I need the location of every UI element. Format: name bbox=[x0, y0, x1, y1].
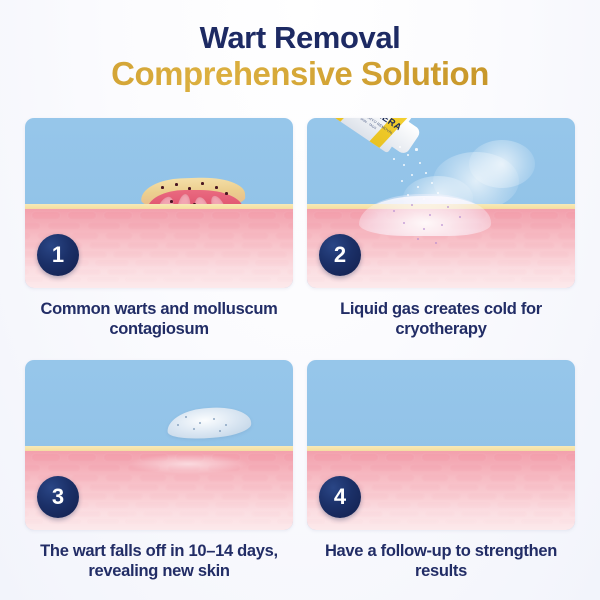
skin-cell bbox=[201, 519, 233, 524]
skin-cell bbox=[221, 251, 251, 258]
skin-cell bbox=[409, 484, 441, 491]
skin-cell bbox=[185, 493, 215, 500]
skin-cell bbox=[387, 474, 415, 482]
skin-cell bbox=[275, 474, 293, 482]
skin-cell bbox=[497, 269, 527, 275]
skin-cell bbox=[251, 511, 281, 517]
skin-cell bbox=[417, 260, 451, 266]
skin-cell bbox=[87, 277, 119, 282]
skin-cell bbox=[95, 502, 129, 508]
skin-cell bbox=[49, 277, 81, 282]
skin-cell bbox=[407, 277, 439, 282]
skin-cell bbox=[445, 277, 477, 282]
step-caption-4: Have a follow-up to strengthen results bbox=[307, 541, 575, 581]
scab-fleck bbox=[177, 424, 179, 426]
scab-fleck bbox=[213, 418, 215, 420]
skin-cell bbox=[107, 269, 137, 275]
skin-cell bbox=[173, 474, 201, 482]
scab-fleck bbox=[225, 424, 227, 426]
skin-cell bbox=[215, 511, 245, 517]
skin-cell bbox=[203, 484, 235, 491]
scene-wart-falls-off: 3 bbox=[25, 360, 293, 530]
skin-cell bbox=[257, 493, 287, 500]
skin-cell bbox=[239, 519, 271, 524]
skin-cell bbox=[329, 222, 363, 230]
skin-cell bbox=[445, 519, 477, 524]
skin-cell bbox=[561, 242, 575, 249]
skin-cell bbox=[497, 502, 531, 508]
skin-cell bbox=[353, 474, 381, 482]
skin-cell bbox=[457, 453, 487, 462]
skin-cell bbox=[425, 269, 455, 275]
skin-cell bbox=[307, 269, 311, 275]
step-badge-3: 3 bbox=[37, 476, 79, 518]
skin-cell bbox=[369, 277, 401, 282]
skin-cell bbox=[529, 222, 563, 230]
wart-capillary-dot bbox=[215, 186, 218, 189]
step-badge-1: 1 bbox=[37, 234, 79, 276]
skin-cell bbox=[539, 251, 569, 258]
skin-cell bbox=[241, 474, 269, 482]
skin-cell bbox=[523, 484, 555, 491]
skin-cell bbox=[251, 269, 281, 275]
wart-removal-infographic: Wart Removal Comprehensive Solution bbox=[0, 0, 600, 600]
skin-cell bbox=[125, 277, 157, 282]
skin-cell bbox=[407, 519, 439, 524]
skin-cell bbox=[467, 251, 497, 258]
skin-cell bbox=[77, 493, 107, 500]
skin-cell bbox=[175, 502, 209, 508]
skin-cell bbox=[461, 511, 491, 517]
skin-cell bbox=[203, 242, 235, 249]
skin-cell bbox=[483, 277, 515, 282]
skin-cell bbox=[521, 519, 553, 524]
skin-cell bbox=[149, 251, 179, 258]
skin-cell bbox=[49, 519, 81, 524]
wart-capillary-dot bbox=[201, 182, 204, 185]
mist-particle bbox=[411, 174, 413, 176]
skin-cell bbox=[307, 474, 313, 482]
skin-cell bbox=[431, 493, 461, 500]
skin-cell bbox=[329, 464, 363, 472]
step-caption-3: The wart falls off in 10–14 days, reveal… bbox=[25, 541, 293, 581]
skin-cell bbox=[417, 502, 451, 508]
skin-cell bbox=[457, 502, 491, 508]
skin-cell bbox=[353, 269, 383, 275]
mist-particle bbox=[417, 186, 419, 188]
detached-wart-scab bbox=[166, 404, 252, 441]
skin-cell bbox=[359, 251, 389, 258]
skin-cell bbox=[493, 453, 523, 462]
skin-cell bbox=[207, 222, 241, 230]
skin-cell bbox=[47, 464, 81, 472]
skin-cell bbox=[307, 493, 317, 500]
skin-cell bbox=[529, 211, 559, 220]
skin-cell bbox=[313, 211, 343, 220]
skin-cell bbox=[523, 474, 551, 482]
skin-cell bbox=[165, 484, 197, 491]
skin-cell bbox=[533, 269, 563, 275]
title-block: Wart Removal Comprehensive Solution bbox=[0, 20, 600, 93]
skin-cell bbox=[353, 511, 383, 517]
skin-cell bbox=[287, 269, 293, 275]
skin-cell bbox=[369, 464, 403, 472]
step-panel-3: 3 The wart falls off in 10–14 days, reve… bbox=[25, 360, 293, 588]
skin-cell bbox=[241, 242, 273, 249]
skin-cell bbox=[561, 484, 575, 491]
skin-cell bbox=[485, 242, 517, 249]
skin-cell bbox=[569, 222, 575, 230]
skin-cell bbox=[489, 222, 523, 230]
skin-cell bbox=[71, 232, 99, 240]
skin-cell bbox=[71, 269, 101, 275]
skin-cell bbox=[105, 232, 133, 240]
skin-cell bbox=[533, 511, 563, 517]
step-panel-1: 1 Common warts and molluscum contagiosum bbox=[25, 118, 293, 346]
skin-cell bbox=[529, 464, 563, 472]
skin-cell bbox=[71, 474, 99, 482]
skin-cell bbox=[385, 453, 415, 462]
wart-capillary-dot bbox=[161, 186, 164, 189]
skin-cell bbox=[377, 260, 411, 266]
mist-particle bbox=[401, 180, 403, 182]
skin-cell bbox=[87, 464, 121, 472]
skin-cell bbox=[77, 251, 107, 258]
skin-cell bbox=[247, 222, 281, 230]
skin-cell bbox=[241, 232, 269, 240]
skin-cell bbox=[221, 493, 251, 500]
skin-cell bbox=[127, 222, 161, 230]
mist-particle bbox=[393, 158, 395, 160]
skin-cell bbox=[25, 493, 35, 500]
skin-cell bbox=[247, 453, 277, 462]
skin-cell bbox=[47, 222, 81, 230]
skin-cell bbox=[371, 484, 403, 491]
skin-cell bbox=[371, 242, 403, 249]
skin-cell bbox=[557, 232, 575, 240]
skin-cell bbox=[103, 211, 133, 220]
scab-fleck bbox=[193, 428, 195, 430]
scene-healed-skin: 4 bbox=[307, 360, 575, 530]
skin-cell bbox=[25, 511, 29, 517]
skin-cell bbox=[377, 502, 411, 508]
skin-cell bbox=[103, 453, 133, 462]
wart-capillary-dot bbox=[188, 187, 191, 190]
skin-cell bbox=[67, 211, 97, 220]
skin-cell bbox=[307, 251, 317, 258]
skin-cell bbox=[277, 519, 293, 524]
skin-cell bbox=[559, 519, 575, 524]
mist-particle bbox=[425, 172, 427, 174]
skin-cell bbox=[557, 474, 575, 482]
skin-cell bbox=[389, 511, 419, 517]
scene-wart-lesion: 1 bbox=[25, 118, 293, 288]
skin-cell bbox=[307, 277, 325, 282]
scene-cryotherapy-spray: CHILLERASE FREEZE CRYO REMOVAL WART · SK… bbox=[307, 118, 575, 288]
skin-cell bbox=[113, 493, 143, 500]
skin-cell bbox=[107, 511, 137, 517]
skin-cell bbox=[307, 464, 323, 472]
skin-cell bbox=[167, 222, 201, 230]
skin-cell bbox=[139, 474, 167, 482]
skin-cell bbox=[421, 474, 449, 482]
skin-cell bbox=[25, 222, 41, 230]
mist-particle bbox=[419, 162, 421, 164]
step-panel-4: 4 Have a follow-up to strengthen results bbox=[307, 360, 575, 588]
skin-cell bbox=[569, 511, 575, 517]
skin-cell bbox=[255, 260, 289, 266]
skin-cell bbox=[25, 464, 41, 472]
skin-cell bbox=[279, 242, 293, 249]
skin-cell bbox=[559, 277, 575, 282]
skin-cell bbox=[127, 484, 159, 491]
skin-cell bbox=[241, 484, 273, 491]
scab-fleck bbox=[185, 416, 187, 418]
skin-cell bbox=[489, 474, 517, 482]
skin-cell bbox=[275, 232, 293, 240]
skin-cell bbox=[389, 269, 419, 275]
skin-cell bbox=[139, 211, 169, 220]
mist-particle bbox=[415, 148, 418, 151]
skin-cell bbox=[215, 260, 249, 266]
skin-cell bbox=[489, 232, 517, 240]
step-panel-2: CHILLERASE FREEZE CRYO REMOVAL WART · SK… bbox=[307, 118, 575, 346]
skin-cell bbox=[211, 211, 241, 220]
skin-cell bbox=[287, 464, 293, 472]
skin-cell bbox=[105, 474, 133, 482]
skin-cell bbox=[31, 453, 61, 462]
skin-cell bbox=[247, 464, 281, 472]
step-caption-2: Liquid gas creates cold for cryotherapy bbox=[307, 299, 575, 339]
skin-cell bbox=[503, 251, 533, 258]
skin-cell bbox=[25, 474, 31, 482]
skin-cell bbox=[179, 511, 209, 517]
skin-cell bbox=[279, 484, 293, 491]
skin-cell bbox=[89, 484, 121, 491]
skin-cell bbox=[359, 493, 389, 500]
skin-cell bbox=[113, 251, 143, 258]
skin-cell bbox=[349, 453, 379, 462]
skin-cell bbox=[523, 242, 555, 249]
skin-cell bbox=[257, 251, 287, 258]
skin-cell bbox=[179, 269, 209, 275]
skin-cell bbox=[25, 269, 29, 275]
skin-cell bbox=[25, 232, 31, 240]
skin-cell bbox=[331, 277, 363, 282]
skin-cell bbox=[175, 211, 205, 220]
skin-cell bbox=[307, 232, 313, 240]
skin-cell bbox=[483, 519, 515, 524]
skin-cell bbox=[67, 453, 97, 462]
skin-cell bbox=[207, 474, 235, 482]
step-caption-1: Common warts and molluscum contagiosum bbox=[25, 299, 293, 339]
skin-cell bbox=[287, 511, 293, 517]
skin-cell bbox=[521, 277, 553, 282]
skin-cell bbox=[489, 464, 523, 472]
skin-cell bbox=[283, 453, 293, 462]
skin-cell bbox=[447, 484, 479, 491]
page-title-line1: Wart Removal bbox=[0, 20, 600, 55]
skin-cell bbox=[71, 511, 101, 517]
page-title-line2: Comprehensive Solution bbox=[0, 55, 600, 93]
skin-cell bbox=[143, 269, 173, 275]
skin-cell bbox=[449, 464, 483, 472]
scab-fleck bbox=[219, 430, 221, 432]
skin-cell bbox=[87, 222, 121, 230]
skin-cell bbox=[215, 502, 249, 508]
skin-cell bbox=[569, 269, 575, 275]
skin-cell bbox=[25, 519, 43, 524]
step-badge-4: 4 bbox=[319, 476, 361, 518]
skin-cell bbox=[461, 269, 491, 275]
skin-cell bbox=[149, 493, 179, 500]
skin-cell bbox=[537, 260, 571, 266]
skin-cell bbox=[173, 232, 201, 240]
skin-cell bbox=[455, 474, 483, 482]
skin-cell bbox=[307, 511, 311, 517]
skin-cell bbox=[139, 232, 167, 240]
skin-cell bbox=[457, 260, 491, 266]
vapor-cloud bbox=[469, 140, 535, 188]
skin-cell bbox=[201, 277, 233, 282]
step-badge-2: 2 bbox=[319, 234, 361, 276]
new-skin-highlight bbox=[129, 454, 247, 474]
skin-cell bbox=[485, 484, 517, 491]
skin-cell bbox=[127, 242, 159, 249]
wart-capillary-dot bbox=[175, 183, 178, 186]
skin-cell bbox=[431, 251, 461, 258]
mist-particle bbox=[407, 154, 409, 156]
skin-cell bbox=[215, 269, 245, 275]
skin-cell bbox=[497, 511, 527, 517]
skin-cell bbox=[135, 502, 169, 508]
skin-cell bbox=[307, 222, 323, 230]
skin-cell bbox=[307, 519, 325, 524]
skin-cell bbox=[565, 211, 575, 220]
skin-cell bbox=[425, 511, 455, 517]
skin-cell bbox=[163, 277, 195, 282]
skin-cell bbox=[185, 251, 215, 258]
skin-cell bbox=[565, 453, 575, 462]
skin-cell bbox=[503, 493, 533, 500]
skin-cell bbox=[125, 519, 157, 524]
skin-cell bbox=[143, 511, 173, 517]
skin-cell bbox=[313, 453, 343, 462]
skin-cell bbox=[497, 260, 531, 266]
skin-cell bbox=[447, 242, 479, 249]
skin-cell bbox=[421, 453, 451, 462]
skin-cell bbox=[31, 211, 61, 220]
skin-cell bbox=[283, 211, 293, 220]
wart-capillary-dot bbox=[170, 200, 173, 203]
skin-cell bbox=[165, 242, 197, 249]
skin-cell bbox=[409, 464, 443, 472]
skin-cell bbox=[89, 242, 121, 249]
skin-cell bbox=[277, 277, 293, 282]
scab-fleck bbox=[199, 422, 201, 424]
skin-cell bbox=[247, 211, 277, 220]
skin-cell bbox=[395, 251, 425, 258]
steps-grid: 1 Common warts and molluscum contagiosum bbox=[25, 118, 575, 588]
skin-cell bbox=[537, 502, 571, 508]
skin-cell bbox=[255, 502, 289, 508]
skin-cell bbox=[395, 493, 425, 500]
skin-cell bbox=[331, 519, 363, 524]
skin-cell bbox=[569, 464, 575, 472]
skin-cell bbox=[539, 493, 569, 500]
skin-cell bbox=[135, 260, 169, 266]
skin-cell bbox=[25, 277, 43, 282]
skin-cell bbox=[207, 232, 235, 240]
mist-particle bbox=[403, 164, 405, 166]
skin-cell bbox=[523, 232, 551, 240]
skin-cell bbox=[87, 519, 119, 524]
skin-cell bbox=[239, 277, 271, 282]
skin-cell bbox=[467, 493, 497, 500]
skin-cell bbox=[493, 211, 523, 220]
skin-cell bbox=[529, 453, 559, 462]
wart-capillary-dot bbox=[225, 192, 228, 195]
skin-cell bbox=[25, 251, 35, 258]
skin-cell bbox=[369, 519, 401, 524]
skin-cell bbox=[95, 260, 129, 266]
skin-cell bbox=[163, 519, 195, 524]
skin-cell bbox=[287, 222, 293, 230]
cryo-spray-can: CHILLERASE FREEZE CRYO REMOVAL WART · SK… bbox=[307, 118, 426, 164]
skin-cell bbox=[175, 260, 209, 266]
